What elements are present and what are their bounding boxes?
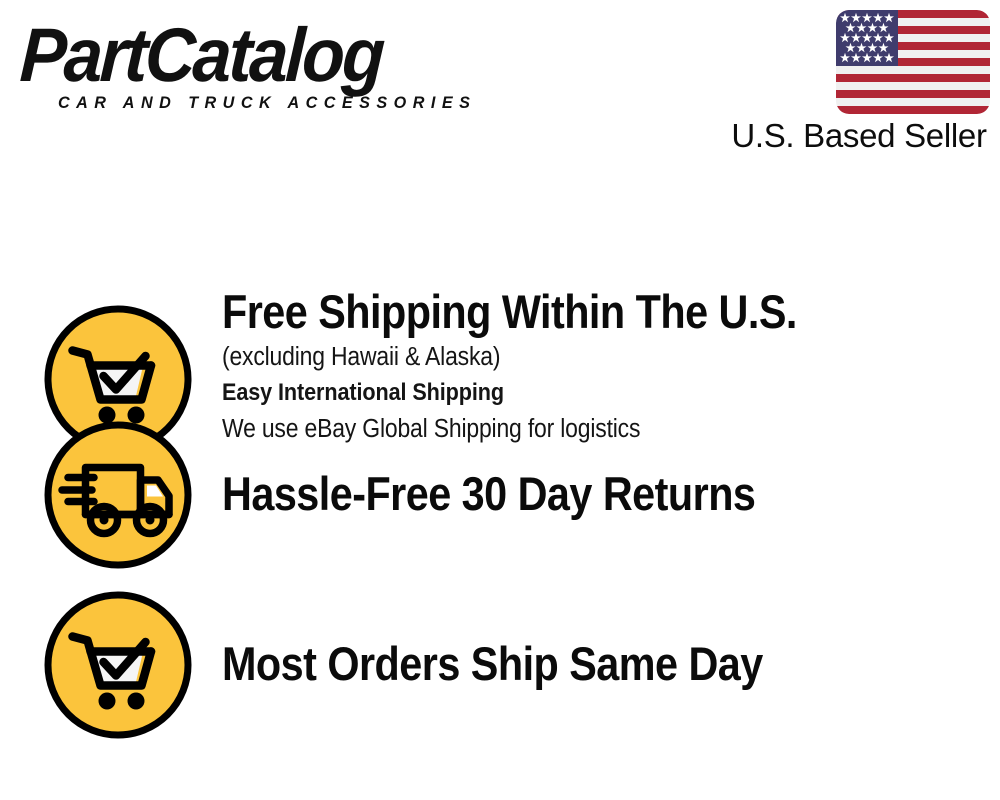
feature-row-same-day: Most Orders Ship Same Day	[0, 589, 1000, 759]
delivery-truck-icon	[42, 419, 194, 571]
shopping-cart-check-icon	[42, 589, 194, 741]
feature-row-returns: Hassle-Free 30 Day Returns	[0, 419, 1000, 589]
feature-title: Free Shipping Within The U.S.	[222, 285, 891, 339]
brand-wordmark: PartCatalog	[18, 18, 454, 94]
feature-subtitle-exclusions: (excluding Hawaii & Alaska)	[222, 339, 906, 375]
brand-tagline: CAR AND TRUCK ACCESSORIES	[58, 94, 476, 112]
feature-row-free-shipping: Free Shipping Within The U.S. (excluding…	[0, 230, 1000, 445]
us-based-seller-label: U.S. Based Seller	[724, 116, 994, 156]
feature-text-returns: Hassle-Free 30 Day Returns	[222, 467, 982, 521]
feature-subtitle-international: Easy International Shipping	[222, 375, 906, 411]
us-flag-icon	[836, 10, 990, 114]
brand-logo: PartCatalog CAR AND TRUCK ACCESSORIES	[22, 18, 492, 113]
feature-text-same-day: Most Orders Ship Same Day	[222, 637, 982, 691]
feature-title: Hassle-Free 30 Day Returns	[222, 467, 891, 521]
banner-header: PartCatalog CAR AND TRUCK ACCESSORIES	[0, 0, 1000, 175]
feature-title: Most Orders Ship Same Day	[222, 637, 891, 691]
